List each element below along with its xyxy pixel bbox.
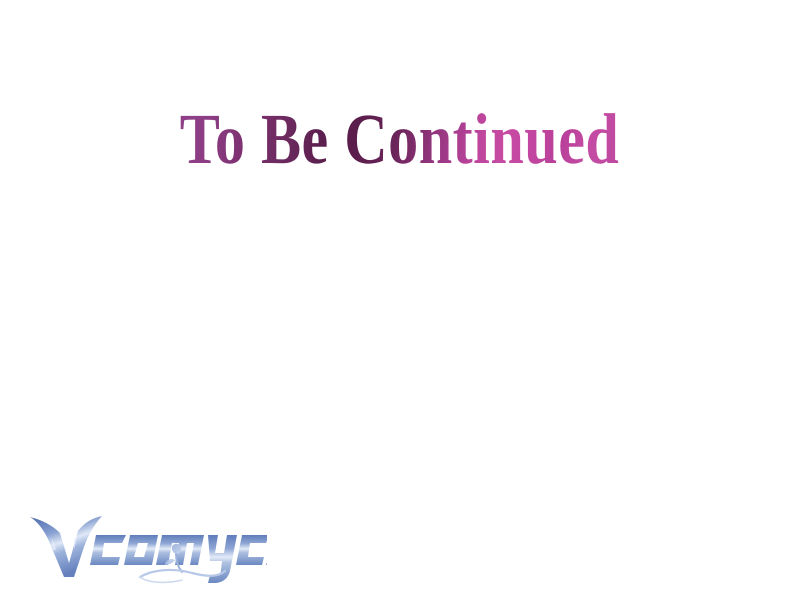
to-be-continued-text: To Be Continued	[180, 104, 620, 176]
comic-end-panel: To Be Continued	[0, 0, 800, 601]
vcomycs-watermark-logo	[22, 505, 267, 587]
logo-v-letter	[30, 516, 102, 577]
to-be-continued-banner: To Be Continued	[0, 100, 800, 180]
logo-wordmark	[90, 535, 267, 583]
headline-watercolor-texture	[150, 108, 660, 170]
